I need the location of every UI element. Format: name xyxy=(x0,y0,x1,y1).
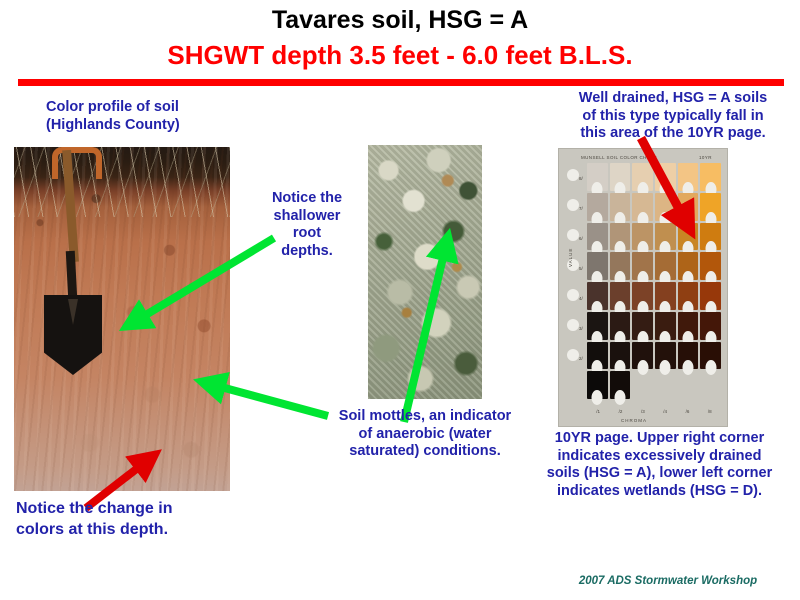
munsell-value-tick: 8/ xyxy=(579,176,587,181)
munsell-hue-label: 10YR xyxy=(699,155,712,160)
munsell-chip-6-4 xyxy=(678,342,699,370)
munsell-chip-0-2 xyxy=(632,163,653,191)
munsell-value-tick: 7/ xyxy=(579,206,587,211)
root-mat-layer xyxy=(14,147,230,217)
munsell-chip-7-5 xyxy=(700,371,721,399)
munsell-chip-grid xyxy=(587,163,721,399)
munsell-row-hole xyxy=(567,349,579,361)
munsell-chroma-tick: /3 xyxy=(641,409,645,414)
munsell-chip-4-3 xyxy=(655,282,676,310)
munsell-chip-2-1 xyxy=(610,223,631,251)
munsell-chip-5-4 xyxy=(678,312,699,340)
note-munsell-explanation: 10YR page. Upper right corner indicates … xyxy=(522,430,797,500)
munsell-chip-5-0 xyxy=(587,312,608,340)
munsell-chip-4-5 xyxy=(700,282,721,310)
munsell-chip-hole xyxy=(592,390,603,405)
munsell-chip-4-1 xyxy=(610,282,631,310)
shovel-grip-icon xyxy=(52,147,102,179)
munsell-chip-0-1 xyxy=(610,163,631,191)
munsell-chip-5-3 xyxy=(655,312,676,340)
munsell-chip-hole xyxy=(614,390,625,405)
note-shallow-roots: Notice the shallower root depths. xyxy=(243,190,371,260)
soil-mottles-photo xyxy=(368,145,482,399)
munsell-chip-0-4 xyxy=(678,163,699,191)
munsell-chip-5-2 xyxy=(632,312,653,340)
munsell-value-labels: 8/7/6/5/4/3/2/ xyxy=(579,163,587,399)
munsell-value-tick: 4/ xyxy=(579,296,587,301)
page-title: Tavares soil, HSG = A xyxy=(0,6,800,35)
munsell-chroma-tick: /1 xyxy=(596,409,600,414)
mottles-texture-layer xyxy=(368,145,482,399)
munsell-chip-7-2 xyxy=(632,371,653,399)
munsell-chip-3-0 xyxy=(587,252,608,280)
slide-canvas: Tavares soil, HSG = A SHGWT depth 3.5 fe… xyxy=(0,0,800,600)
note-well-drained: Well drained, HSG = A soils of this type… xyxy=(548,90,798,143)
munsell-row-hole xyxy=(567,199,579,211)
munsell-chip-0-0 xyxy=(587,163,608,191)
munsell-chip-1-1 xyxy=(610,193,631,221)
munsell-chip-2-0 xyxy=(587,223,608,251)
munsell-value-tick: 2/ xyxy=(579,356,587,361)
munsell-chip-2-2 xyxy=(632,223,653,251)
munsell-chip-4-4 xyxy=(678,282,699,310)
munsell-value-axis-label: VALUE xyxy=(568,248,573,267)
munsell-chip-6-2 xyxy=(632,342,653,370)
munsell-chroma-tick: /6 xyxy=(686,409,690,414)
note-soil-mottles: Soil mottles, an indicator of anaerobic … xyxy=(305,408,545,461)
munsell-chip-1-0 xyxy=(587,193,608,221)
munsell-row-hole xyxy=(567,229,579,241)
munsell-chip-2-3 xyxy=(655,223,676,251)
munsell-chip-5-1 xyxy=(610,312,631,340)
munsell-chip-6-1 xyxy=(610,342,631,370)
munsell-chip-7-0 xyxy=(587,371,608,399)
munsell-chip-7-1 xyxy=(610,371,631,399)
munsell-chart-caption: MUNSELL SOIL COLOR CHART xyxy=(581,155,657,160)
munsell-chip-1-5 xyxy=(700,193,721,221)
munsell-chip-3-1 xyxy=(610,252,631,280)
munsell-chip-1-2 xyxy=(632,193,653,221)
munsell-chip-0-3 xyxy=(655,163,676,191)
munsell-value-tick: 5/ xyxy=(579,266,587,271)
munsell-chip-1-3 xyxy=(655,193,676,221)
munsell-chip-0-5 xyxy=(700,163,721,191)
munsell-chip-2-5 xyxy=(700,223,721,251)
munsell-chip-7-3 xyxy=(655,371,676,399)
munsell-chip-1-4 xyxy=(678,193,699,221)
munsell-row-hole xyxy=(567,289,579,301)
munsell-row-hole xyxy=(567,319,579,331)
munsell-chip-6-0 xyxy=(587,342,608,370)
munsell-chroma-ticks: /1/2/3/4/6/8 xyxy=(587,409,721,414)
munsell-chip-3-2 xyxy=(632,252,653,280)
footer-credit: 2007 ADS Stormwater Workshop xyxy=(548,575,788,587)
page-subtitle: SHGWT depth 3.5 feet - 6.0 feet B.L.S. xyxy=(0,40,800,71)
munsell-chroma-tick: /4 xyxy=(663,409,667,414)
munsell-chroma-tick: /8 xyxy=(708,409,712,414)
munsell-chip-2-4 xyxy=(678,223,699,251)
munsell-chip-4-0 xyxy=(587,282,608,310)
munsell-chip-7-4 xyxy=(678,371,699,399)
note-color-change: Notice the change in colors at this dept… xyxy=(16,498,266,540)
munsell-chip-4-2 xyxy=(632,282,653,310)
munsell-chroma-tick: /2 xyxy=(619,409,623,414)
munsell-chip-3-5 xyxy=(700,252,721,280)
munsell-chip-5-5 xyxy=(700,312,721,340)
munsell-chip-6-3 xyxy=(655,342,676,370)
munsell-chip-3-4 xyxy=(678,252,699,280)
munsell-chip-6-5 xyxy=(700,342,721,370)
note-color-profile: Color profile of soil (Highlands County) xyxy=(46,99,276,134)
soil-profile-photo xyxy=(14,147,230,491)
title-divider-rule xyxy=(18,79,784,86)
munsell-10yr-page: MUNSELL SOIL COLOR CHART 10YR 8/7/6/5/4/… xyxy=(558,148,728,427)
munsell-chip-3-3 xyxy=(655,252,676,280)
munsell-row-hole xyxy=(567,169,579,181)
munsell-value-tick: 6/ xyxy=(579,236,587,241)
munsell-chroma-axis-label: CHROMA xyxy=(621,418,647,423)
munsell-value-tick: 3/ xyxy=(579,326,587,331)
